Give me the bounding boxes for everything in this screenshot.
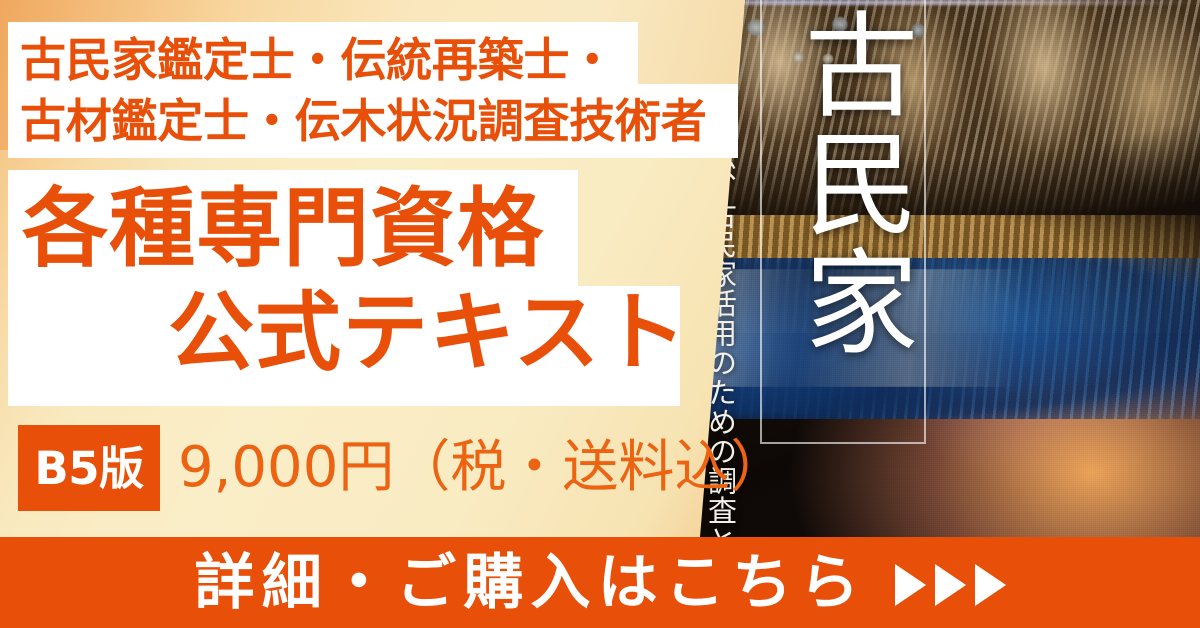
headline-line-2: 古材鑑定士・伝木状況調査技術者 — [20, 91, 720, 152]
chevron-right-icon — [975, 564, 1006, 606]
headline-line-1: 古民家鑑定士・伝統再築士・ — [20, 30, 720, 91]
cover-title-vertical: 古民家 — [768, 6, 918, 362]
cta-label: 詳細・ご購入はこちら — [195, 553, 867, 613]
format-badge: B5版 — [18, 425, 160, 511]
chevron-right-icon — [895, 564, 926, 606]
promo-banner: 古民家 伝統構法、古民家活用のための調査と再生の 古民家鑑定士・伝統再築士・ 古… — [0, 0, 1200, 628]
main-title-line-1: 各種専門資格 — [22, 186, 544, 272]
chevron-right-icon — [935, 564, 966, 606]
price-text: 9,000円（税・送料込） — [178, 432, 786, 505]
format-badge-label: B5版 — [34, 446, 143, 491]
cta-arrows — [895, 564, 1006, 606]
cta-bar[interactable]: 詳細・ご購入はこちら — [0, 537, 1200, 628]
headline-text: 古民家鑑定士・伝統再築士・ 古材鑑定士・伝木状況調査技術者 — [20, 30, 720, 152]
main-title-line-2: 公式テキスト — [168, 290, 688, 376]
